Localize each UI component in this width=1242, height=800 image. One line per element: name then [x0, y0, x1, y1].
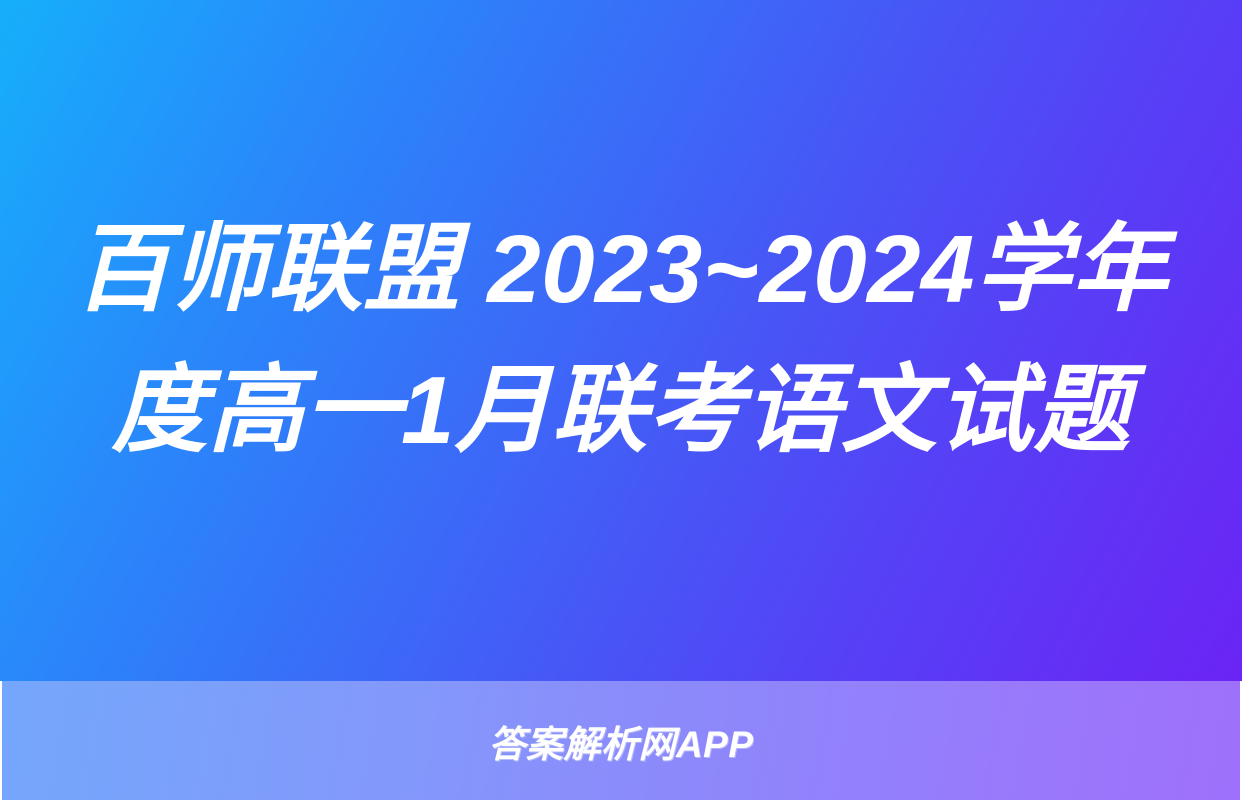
brand-watermark-label: 答案解析网APP: [488, 714, 753, 768]
exam-paper-cover-poster: 百师联盟 2023~2024学年度高一1月联考语文试题 答案解析网APP: [0, 0, 1242, 800]
hero-gradient-panel: 百师联盟 2023~2024学年度高一1月联考语文试题: [0, 0, 1242, 681]
exam-title: 百师联盟 2023~2024学年度高一1月联考语文试题: [0, 0, 1242, 681]
footer-brand-band: 答案解析网APP: [0, 681, 1242, 800]
